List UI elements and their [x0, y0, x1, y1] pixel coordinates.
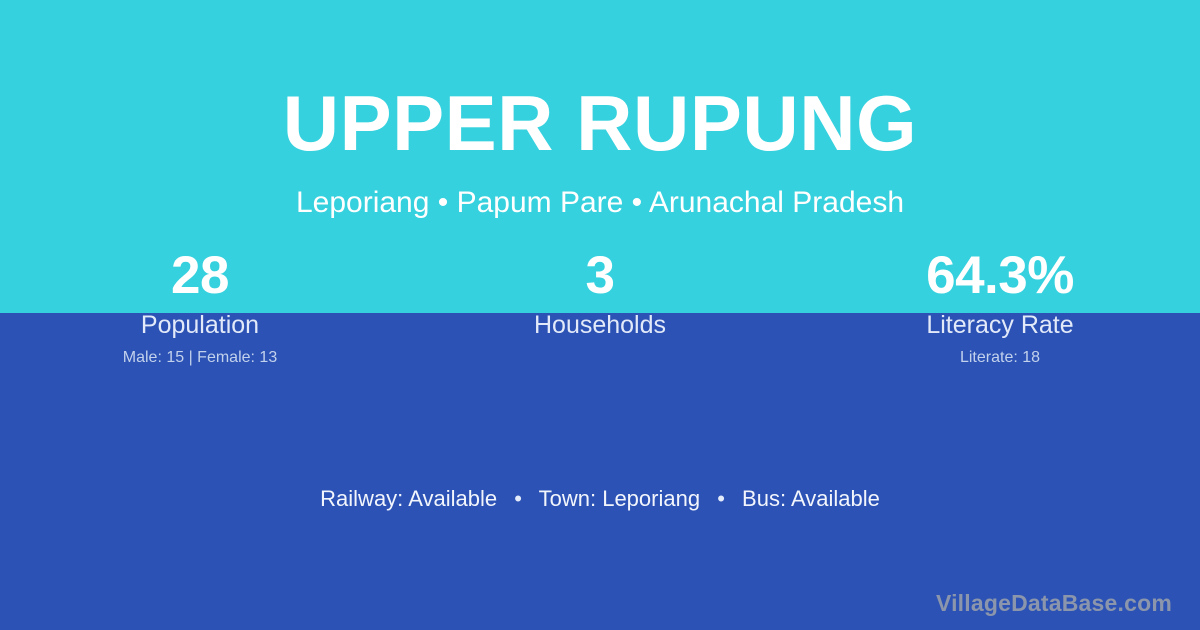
stat-population: 28 Population Male: 15 | Female: 13 — [0, 246, 400, 368]
bullet-separator-icon: • — [706, 486, 736, 512]
amenity-bus: Bus: Available — [742, 486, 880, 511]
card-header: UPPER RUPUNG Leporiang • Papum Pare • Ar… — [0, 0, 1200, 219]
stat-literacy-breakdown: Literate: 18 — [800, 349, 1200, 368]
page-title: UPPER RUPUNG — [0, 0, 1200, 162]
amenity-railway: Railway: Available — [320, 486, 497, 511]
stat-households-value: 3 — [400, 246, 800, 305]
amenity-town: Town: Leporiang — [539, 486, 700, 511]
breadcrumb: Leporiang • Papum Pare • Arunachal Prade… — [0, 162, 1200, 219]
stat-literacy: 64.3% Literacy Rate Literate: 18 — [800, 246, 1200, 368]
stats-row: 28 Population Male: 15 | Female: 13 3 Ho… — [0, 246, 1200, 368]
village-info-card: UPPER RUPUNG Leporiang • Papum Pare • Ar… — [0, 0, 1200, 630]
stat-households-breakdown — [400, 349, 800, 368]
amenities-line: Railway: Available • Town: Leporiang • B… — [0, 486, 1200, 512]
stat-population-value: 28 — [0, 246, 400, 305]
stat-literacy-value: 64.3% — [800, 246, 1200, 305]
bullet-separator-icon: • — [503, 486, 533, 512]
stat-households-label: Households — [400, 311, 800, 340]
stat-households: 3 Households — [400, 246, 800, 368]
site-watermark: VillageDataBase.com — [936, 590, 1172, 618]
stat-population-label: Population — [0, 311, 400, 340]
stat-literacy-label: Literacy Rate — [800, 311, 1200, 340]
stat-population-breakdown: Male: 15 | Female: 13 — [0, 349, 400, 368]
